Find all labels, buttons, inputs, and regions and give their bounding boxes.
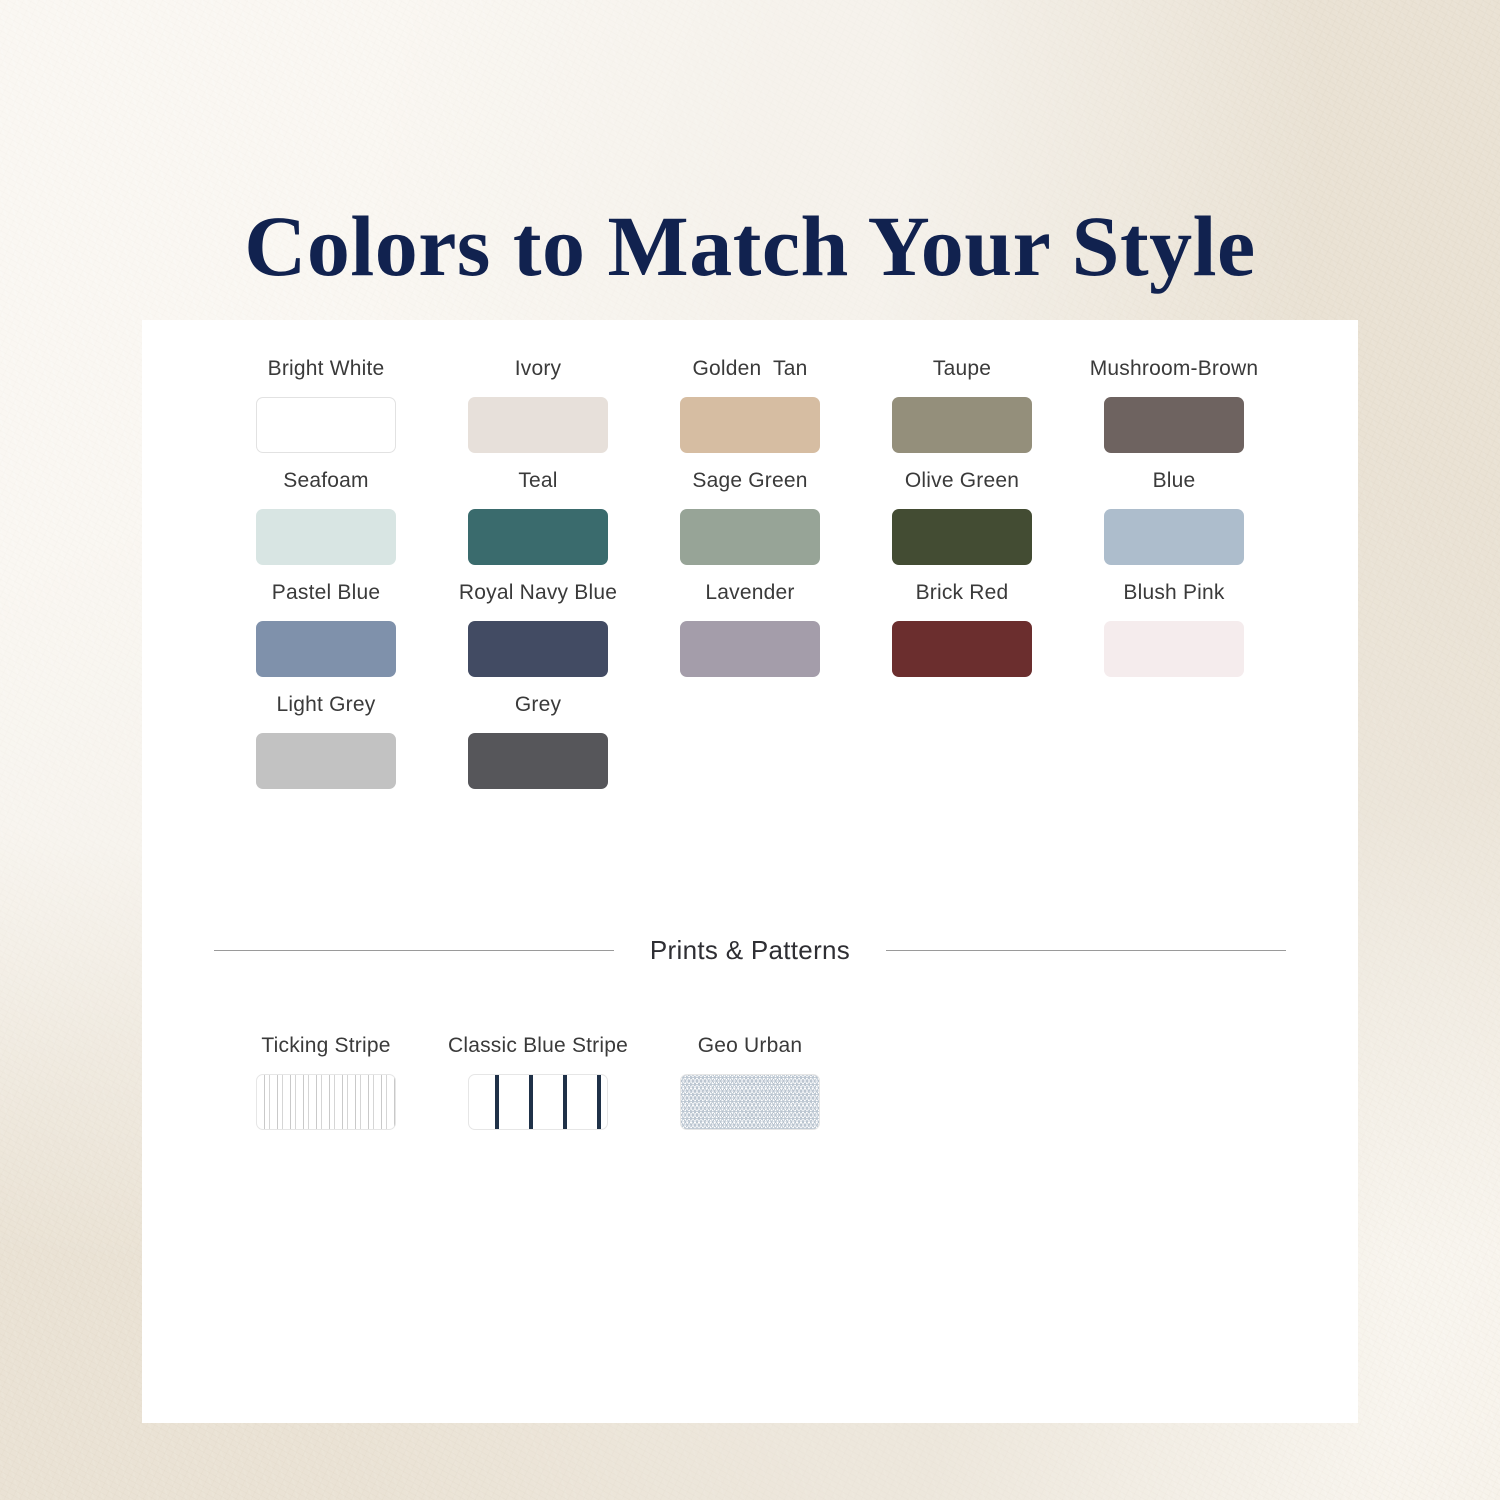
- color-swatch-ivory[interactable]: Ivory: [432, 358, 644, 470]
- pattern-swatch-chip[interactable]: [680, 1074, 820, 1130]
- pattern-swatch-ticking-stripe[interactable]: Ticking Stripe: [220, 1035, 432, 1130]
- pattern-swatch-chip[interactable]: [256, 1074, 396, 1130]
- patterns-heading: Prints & Patterns: [614, 935, 886, 966]
- color-swatch-mushroom-brown[interactable]: Mushroom-Brown: [1068, 358, 1280, 470]
- divider-right: [886, 950, 1286, 951]
- color-swatch-label: Olive Green: [905, 470, 1019, 491]
- color-swatch-pastel-blue[interactable]: Pastel Blue: [220, 582, 432, 694]
- pattern-swatch-label: Ticking Stripe: [261, 1035, 390, 1056]
- color-swatch-label: Lavender: [705, 582, 794, 603]
- color-swatch-label: Light Grey: [277, 694, 376, 715]
- color-swatch-label: Mushroom-Brown: [1090, 358, 1259, 379]
- color-swatch-chip[interactable]: [1104, 509, 1244, 565]
- color-swatch-chip[interactable]: [468, 621, 608, 677]
- color-swatch-chip[interactable]: [892, 621, 1032, 677]
- color-swatch-chip[interactable]: [680, 397, 820, 453]
- color-swatch-chip[interactable]: [256, 397, 396, 453]
- color-swatch-label: Seafoam: [283, 470, 368, 491]
- color-swatch-chip[interactable]: [680, 509, 820, 565]
- color-swatch-label: Ivory: [515, 358, 562, 379]
- color-swatch-lavender[interactable]: Lavender: [644, 582, 856, 694]
- swatch-card: Bright WhiteIvoryGolden TanTaupeMushroom…: [142, 320, 1358, 1423]
- color-swatch-brick-red[interactable]: Brick Red: [856, 582, 1068, 694]
- pattern-swatch-grid: Ticking StripeClassic Blue StripeGeo Urb…: [220, 1035, 1280, 1130]
- color-swatch-grey[interactable]: Grey: [432, 694, 644, 806]
- color-swatch-sage-green[interactable]: Sage Green: [644, 470, 856, 582]
- color-swatch-taupe[interactable]: Taupe: [856, 358, 1068, 470]
- pattern-swatch-classic-blue-stripe[interactable]: Classic Blue Stripe: [432, 1035, 644, 1130]
- color-swatch-grid: Bright WhiteIvoryGolden TanTaupeMushroom…: [220, 358, 1280, 806]
- color-swatch-seafoam[interactable]: Seafoam: [220, 470, 432, 582]
- color-swatch-chip[interactable]: [256, 509, 396, 565]
- color-swatch-bright-white[interactable]: Bright White: [220, 358, 432, 470]
- color-swatch-label: Sage Green: [692, 470, 807, 491]
- pattern-swatch-label: Geo Urban: [698, 1035, 803, 1056]
- color-swatch-label: Taupe: [933, 358, 991, 379]
- color-swatch-light-grey[interactable]: Light Grey: [220, 694, 432, 806]
- divider-left: [214, 950, 614, 951]
- color-swatch-label: Royal Navy Blue: [459, 582, 617, 603]
- color-swatch-label: Blue: [1153, 470, 1196, 491]
- color-swatch-blush-pink[interactable]: Blush Pink: [1068, 582, 1280, 694]
- color-swatch-blue[interactable]: Blue: [1068, 470, 1280, 582]
- color-swatch-chip[interactable]: [468, 397, 608, 453]
- color-swatch-chip[interactable]: [468, 509, 608, 565]
- color-swatch-chip[interactable]: [892, 397, 1032, 453]
- pattern-swatch-chip[interactable]: [468, 1074, 608, 1130]
- color-swatch-teal[interactable]: Teal: [432, 470, 644, 582]
- color-swatch-chip[interactable]: [892, 509, 1032, 565]
- patterns-heading-row: Prints & Patterns: [142, 935, 1358, 966]
- patterns-section: Prints & Patterns Ticking StripeClassic …: [142, 935, 1358, 966]
- color-swatch-chip[interactable]: [1104, 621, 1244, 677]
- color-swatch-chip[interactable]: [1104, 397, 1244, 453]
- color-swatch-olive-green[interactable]: Olive Green: [856, 470, 1068, 582]
- color-swatch-label: Brick Red: [916, 582, 1009, 603]
- color-swatch-golden-tan[interactable]: Golden Tan: [644, 358, 856, 470]
- color-swatch-chip[interactable]: [256, 733, 396, 789]
- page-title: Colors to Match Your Style: [0, 196, 1500, 296]
- color-swatch-label: Pastel Blue: [272, 582, 380, 603]
- color-swatch-label: Golden Tan: [692, 358, 807, 379]
- color-swatch-chip[interactable]: [256, 621, 396, 677]
- pattern-swatch-label: Classic Blue Stripe: [448, 1035, 628, 1056]
- color-swatch-chip[interactable]: [680, 621, 820, 677]
- color-swatch-label: Bright White: [268, 358, 385, 379]
- color-swatch-label: Blush Pink: [1123, 582, 1224, 603]
- pattern-swatch-geo-urban[interactable]: Geo Urban: [644, 1035, 856, 1130]
- color-swatch-label: Grey: [515, 694, 561, 715]
- color-swatch-label: Teal: [518, 470, 557, 491]
- color-swatch-chip[interactable]: [468, 733, 608, 789]
- color-swatch-royal-navy-blue[interactable]: Royal Navy Blue: [432, 582, 644, 694]
